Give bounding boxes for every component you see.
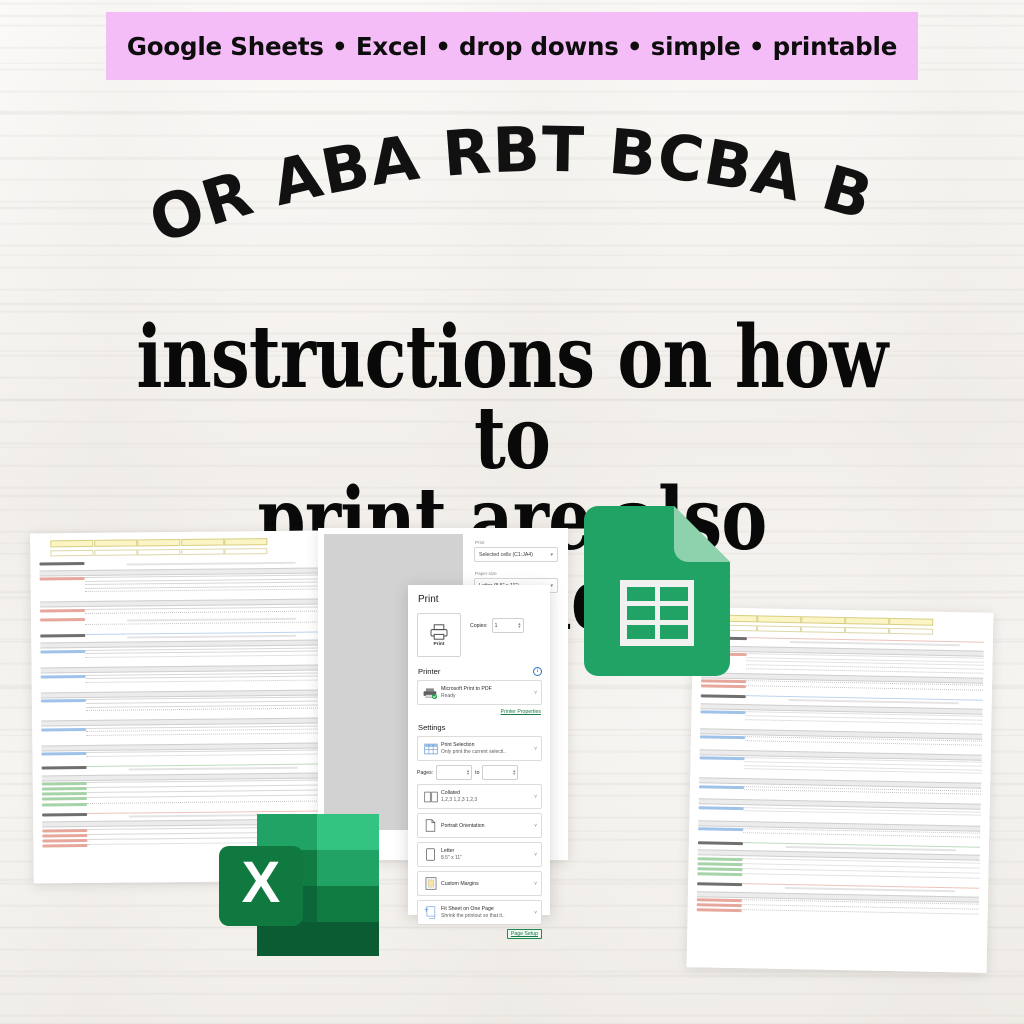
section-row: [41, 697, 320, 714]
printer-section-label: Printer: [418, 667, 440, 676]
collated-icon: [422, 791, 439, 803]
setting-subtitle: 1,2,3 1,2,3 1,2,3: [441, 797, 532, 803]
print-dialog[interactable]: Print Print Copies: 1 ▴ ▾: [408, 585, 550, 915]
setting-title: Print Selection: [441, 742, 474, 748]
arched-heading: FOR ABA RBT BCBA BA: [0, 92, 1024, 242]
setting-subtitle: Shrink the printout so that it..: [441, 913, 532, 919]
feature-banner: Google Sheets • Excel • drop downs • sim…: [106, 12, 918, 80]
printer-name: Microsoft Print to PDF: [441, 686, 492, 692]
printer-properties-link[interactable]: Printer Properties: [417, 709, 541, 715]
printer-section-header: Printer i: [418, 667, 542, 676]
chevron-down-icon[interactable]: ˅: [532, 881, 537, 887]
margins-icon: [422, 877, 439, 890]
table-header-row: [713, 615, 933, 626]
paper-icon: [422, 848, 439, 861]
scaling-icon: [422, 906, 439, 919]
microsoft-excel-logo: X: [215, 810, 383, 960]
setting-row-collated[interactable]: Collated 1,2,3 1,2,3 1,2,3 ˅: [417, 784, 542, 809]
section-row: [40, 575, 319, 596]
spreadsheet-document-right[interactable]: [687, 607, 994, 973]
chevron-down-icon[interactable]: ˅: [532, 852, 537, 858]
printer-status: Ready: [441, 693, 532, 699]
setting-row-orientation[interactable]: Portrait Orientation ˅: [417, 813, 542, 838]
copies-stepper[interactable]: 1 ▴ ▾: [492, 618, 524, 633]
stepper-arrows[interactable]: ▴ ▾: [518, 623, 520, 629]
setting-row-scaling[interactable]: Fit Sheet on One Page Shrink the printou…: [417, 900, 542, 925]
paper-size-label: Paper size: [475, 571, 558, 576]
table-value-row: [713, 625, 933, 635]
settings-section-header: Settings: [418, 723, 542, 732]
chevron-down-icon[interactable]: ˅: [532, 746, 537, 752]
section-row: [41, 725, 320, 739]
feature-banner-text: Google Sheets • Excel • drop downs • sim…: [127, 32, 897, 61]
printer-select-row[interactable]: Microsoft Print to PDF Ready ˅: [417, 680, 542, 705]
portrait-icon: [422, 819, 439, 832]
printer-icon: [429, 624, 449, 640]
print-dialog-title: Print: [418, 594, 542, 605]
pages-range-row[interactable]: Pages: ▴ ▾ to ▴ ▾: [417, 765, 542, 780]
chevron-down-icon[interactable]: ˅: [532, 690, 537, 696]
setting-row-print-selection[interactable]: Print Selection Only print the current s…: [417, 736, 542, 761]
copies-label: Copies:: [470, 623, 488, 629]
chevron-down-icon: ▾: [550, 552, 553, 558]
print-button[interactable]: Print: [417, 613, 461, 657]
print-range-label: Print: [475, 540, 558, 545]
settings-section-label: Settings: [418, 723, 445, 732]
stepper-down-icon[interactable]: ▾: [467, 773, 469, 776]
arched-heading-text: FOR ABA RBT BCBA BA: [0, 92, 881, 242]
chevron-down-icon[interactable]: ˅: [532, 794, 537, 800]
print-range-value: Selected cells (C1:JA4): [479, 552, 533, 558]
pages-label: Pages:: [417, 770, 433, 776]
pages-to-input[interactable]: ▴ ▾: [482, 765, 518, 780]
chevron-down-icon[interactable]: ˅: [532, 823, 537, 829]
print-range-select[interactable]: Selected cells (C1:JA4) ▾: [474, 547, 558, 562]
setting-subtitle: Only print the current selecti..: [441, 749, 532, 755]
page-title-line1: instructions on how to: [136, 307, 887, 489]
setting-title: Collated: [441, 790, 460, 796]
chevron-down-icon: ▾: [550, 583, 553, 589]
stepper-down-icon[interactable]: ▾: [513, 773, 515, 776]
setting-title: Fit Sheet on One Page: [441, 906, 494, 912]
setting-row-paper-size[interactable]: Letter 8.5" x 11" ˅: [417, 842, 542, 867]
info-icon[interactable]: i: [533, 667, 542, 676]
pages-from-input[interactable]: ▴ ▾: [436, 765, 472, 780]
setting-title: Portrait Orientation: [441, 823, 485, 829]
product-mockup-collage: Print Selected cells (C1:JA4) ▾ Paper si…: [0, 470, 1024, 1024]
stepper-arrows[interactable]: ▴ ▾: [467, 770, 469, 776]
table-value-row: [50, 548, 268, 556]
print-selection-icon: [422, 743, 439, 755]
pages-to-label: to: [475, 770, 479, 776]
excel-letter-x: X: [242, 850, 281, 915]
section-row: [41, 672, 320, 686]
copies-value: 1: [495, 623, 498, 629]
table-header-row: [50, 538, 268, 547]
printer-icon: [422, 687, 439, 699]
page-setup-link[interactable]: Page Setup: [507, 929, 542, 939]
setting-title: Custom Margins: [441, 881, 479, 887]
setting-row-margins[interactable]: Custom Margins ˅: [417, 871, 542, 896]
setting-title: Letter: [441, 848, 454, 854]
chevron-down-icon[interactable]: ˅: [532, 910, 537, 916]
google-sheets-logo: [584, 506, 730, 676]
setting-subtitle: 8.5" x 11": [441, 855, 532, 861]
section-row: [40, 647, 319, 661]
print-button-label: Print: [434, 642, 445, 647]
stepper-arrows[interactable]: ▴ ▾: [513, 770, 515, 776]
stepper-down-icon[interactable]: ▾: [518, 626, 520, 629]
